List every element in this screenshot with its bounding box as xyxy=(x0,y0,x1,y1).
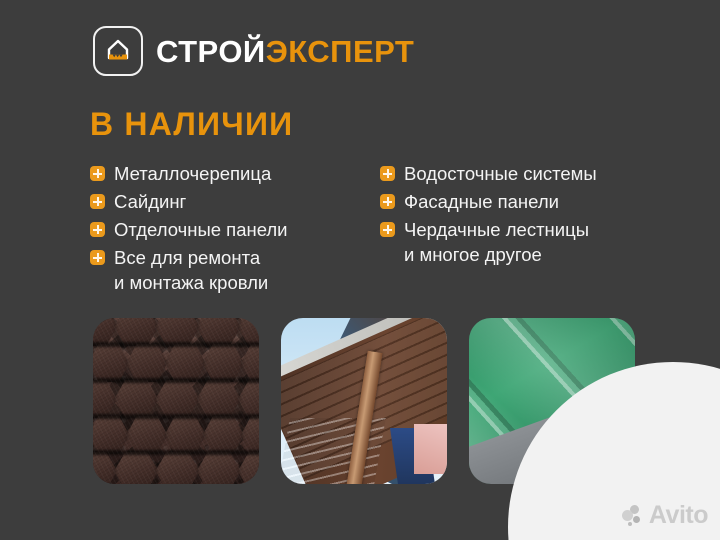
feature-column-left: Металлочерепица Сайдинг Отделочные панел… xyxy=(90,161,380,298)
list-item: Сайдинг xyxy=(90,189,380,214)
photo-bitumen-shingles xyxy=(93,318,259,484)
watermark-label: Avito xyxy=(649,503,708,528)
list-item: Металлочерепица xyxy=(90,161,380,186)
plus-square-icon xyxy=(380,222,395,237)
plus-square-icon xyxy=(90,166,105,181)
feature-columns: Металлочерепица Сайдинг Отделочные панел… xyxy=(90,161,650,298)
plus-square-icon xyxy=(380,194,395,209)
list-item: Все для ремонта и монтажа кровли xyxy=(90,245,380,295)
advertisement-poster: СТРОЙЭКСПЕРТ В НАЛИЧИИ Металлочерепица С… xyxy=(0,0,720,540)
list-item-label: Металлочерепица xyxy=(114,161,271,186)
list-item: Водосточные системы xyxy=(380,161,650,186)
list-item-label: Все для ремонта и монтажа кровли xyxy=(114,245,268,295)
list-item-label-line2: и монтажа кровли xyxy=(114,270,268,295)
shingle-texture xyxy=(93,318,259,484)
photo-roof-eave-gutter xyxy=(281,318,447,484)
house-in-rounded-square-icon xyxy=(93,26,143,76)
plus-square-icon xyxy=(90,194,105,209)
brand-name-part2: ЭКСПЕРТ xyxy=(266,34,415,69)
avito-watermark: Avito xyxy=(622,503,708,528)
list-item-label-line1: Все для ремонта xyxy=(114,247,260,268)
page-title: В НАЛИЧИИ xyxy=(90,108,293,140)
brand-name-part1: СТРОЙ xyxy=(156,34,266,69)
list-item: Отделочные панели xyxy=(90,217,380,242)
list-item-label: Фасадные панели xyxy=(404,189,559,214)
list-item: Чердачные лестницы и многое другое xyxy=(380,217,650,267)
plus-square-icon xyxy=(90,250,105,265)
plus-square-icon xyxy=(380,166,395,181)
brand-logo: СТРОЙЭКСПЕРТ xyxy=(93,26,414,76)
list-item-label: Отделочные панели xyxy=(114,217,288,242)
plus-square-icon xyxy=(90,222,105,237)
list-item-label-line1: Чердачные лестницы xyxy=(404,219,589,240)
list-item-label: Сайдинг xyxy=(114,189,186,214)
list-item-label: Чердачные лестницы и многое другое xyxy=(404,217,589,267)
feature-column-right: Водосточные системы Фасадные панели Черд… xyxy=(380,161,650,298)
list-item-label: Водосточные системы xyxy=(404,161,597,186)
list-item-label-line2: и многое другое xyxy=(404,242,589,267)
avito-dots-icon xyxy=(622,505,644,527)
list-item: Фасадные панели xyxy=(380,189,650,214)
eave-illustration xyxy=(281,318,447,484)
brand-wordmark: СТРОЙЭКСПЕРТ xyxy=(156,36,414,67)
